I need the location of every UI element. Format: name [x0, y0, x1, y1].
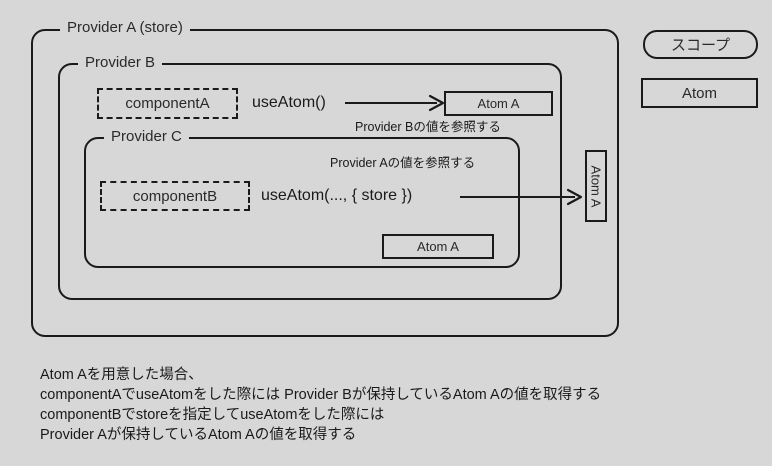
use-atom-default-call: useAtom() — [252, 94, 326, 112]
use-atom-store-call: useAtom(..., { store }) — [261, 187, 412, 205]
caption-line-4: Provider Aが保持しているAtom Aの値を取得する — [40, 425, 740, 445]
caption-line-2: componentAでuseAtomをした際には Provider Bが保持して… — [40, 385, 740, 405]
provider-c-label: Provider C — [104, 129, 189, 145]
component-a-box: componentA — [97, 88, 238, 119]
arrow-to-provider-b-atom-line — [345, 102, 437, 104]
diagram-canvas: Provider A (store) Provider B Provider C… — [0, 0, 772, 466]
annotation-provider-b-reference: Provider Bの値を参照する — [355, 120, 501, 134]
annotation-provider-a-reference: Provider Aの値を参照する — [330, 156, 475, 170]
caption-line-1: Atom Aを用意した場合、 — [40, 365, 740, 385]
atom-a-box-provider-a: Atom A — [585, 150, 607, 222]
component-b-box: componentB — [100, 181, 250, 211]
provider-a-label: Provider A (store) — [60, 20, 190, 36]
legend-scope-pill: スコープ — [643, 30, 758, 59]
provider-b-label: Provider B — [78, 55, 162, 71]
caption-block: Atom Aを用意した場合、 componentAでuseAtomをした際には … — [40, 365, 740, 445]
atom-a-box-provider-a-label: Atom A — [589, 165, 604, 207]
atom-a-box-provider-c: Atom A — [382, 234, 494, 259]
atom-a-box-provider-b: Atom A — [444, 91, 553, 116]
legend-atom-box: Atom — [641, 78, 758, 108]
caption-line-3: componentBでstoreを指定してuseAtomをした際には — [40, 405, 740, 425]
arrow-to-provider-a-atom-line — [460, 196, 575, 198]
